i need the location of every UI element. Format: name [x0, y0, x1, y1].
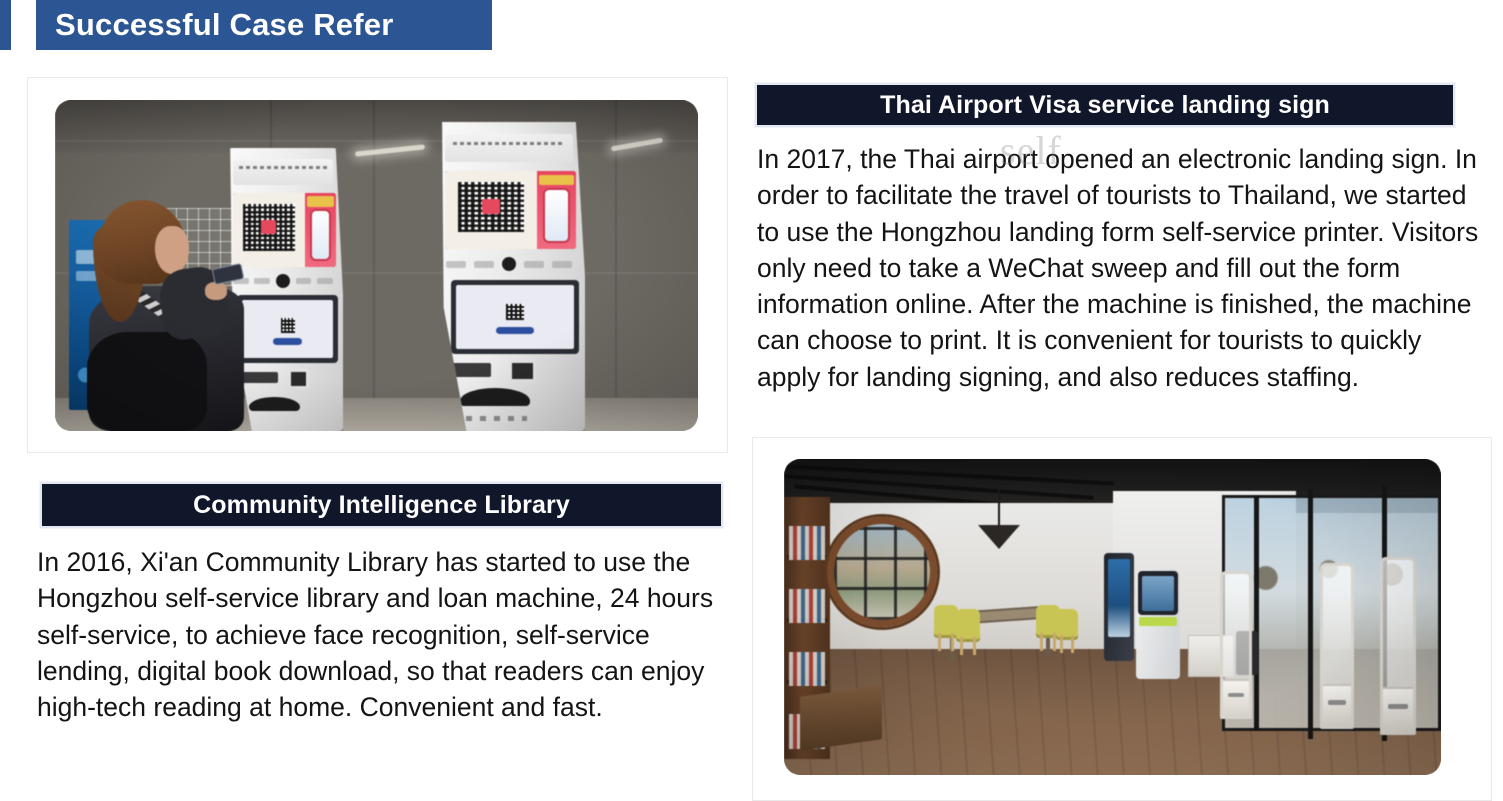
chair: [956, 609, 980, 639]
page-title: Successful Case Refer: [36, 7, 393, 43]
community-library-header: Community Intelligence Library: [40, 482, 723, 528]
security-gate: [1320, 563, 1354, 729]
window-mullion: [1308, 489, 1313, 739]
hall-ceiling: [55, 100, 698, 153]
kiosk-photo: [55, 100, 698, 431]
thai-airport-body: In 2017, the Thai airport opened an elec…: [757, 141, 1485, 395]
kiosk-touch-screen[interactable]: [237, 295, 338, 363]
kiosk-button-row: [230, 274, 336, 288]
thai-airport-header-label: Thai Airport Visa service landing sign: [880, 91, 1330, 120]
kiosk-passport-reader: [509, 360, 536, 382]
kiosk-upper-screen: [445, 171, 576, 248]
chair: [934, 605, 958, 635]
security-gate: [1220, 571, 1252, 719]
kiosk-output-tray: [249, 397, 299, 411]
person-face: [155, 226, 189, 274]
chair: [1056, 609, 1078, 637]
slide-canvas: Successful Case Refer: [0, 0, 1503, 801]
wall-band: [55, 140, 698, 142]
kiosk-top-label: [233, 159, 334, 184]
kiosk-upper-screen: [233, 193, 336, 267]
kiosk-phone-pane: [305, 193, 336, 267]
kiosk-camera-icon: [276, 274, 290, 288]
library-photo: [784, 459, 1441, 775]
pendant-lamp-shade: [978, 525, 1020, 549]
security-gate: [1380, 557, 1416, 735]
self-service-kiosk: [1136, 569, 1180, 679]
digital-signage-kiosk: [1104, 553, 1134, 661]
kiosk-passport-reader: [288, 369, 310, 389]
person-hand: [205, 282, 227, 300]
kiosk-label-dots: [466, 416, 527, 421]
window-mullion: [1254, 495, 1259, 731]
page-title-banner: Successful Case Refer: [36, 0, 492, 50]
person-bag: [87, 332, 207, 431]
kiosk-camera-icon: [502, 257, 516, 271]
round-window: [827, 517, 937, 627]
kiosk-photo-frame: [27, 77, 728, 453]
library-photo-frame: [752, 437, 1492, 801]
kiosk-qr-pane: [445, 171, 537, 248]
community-library-body: In 2016, Xi'an Community Library has sta…: [37, 544, 729, 725]
pendant-lamp-cord: [998, 487, 1000, 527]
kiosk-button-row: [442, 256, 576, 271]
title-accent-bar: [0, 0, 11, 50]
kiosk-output-tray: [460, 388, 530, 407]
kiosk-qr-pane: [233, 193, 305, 267]
kiosk-card-slot: [451, 363, 491, 377]
community-library-header-label: Community Intelligence Library: [193, 491, 570, 520]
kiosk-card-slot: [240, 372, 278, 383]
wooden-bench: [800, 685, 882, 751]
kiosk-touch-screen[interactable]: [451, 280, 579, 354]
kiosk-phone-pane: [537, 171, 576, 248]
kiosk-top-label: [445, 134, 573, 162]
thai-airport-header: Thai Airport Visa service landing sign: [755, 83, 1455, 127]
